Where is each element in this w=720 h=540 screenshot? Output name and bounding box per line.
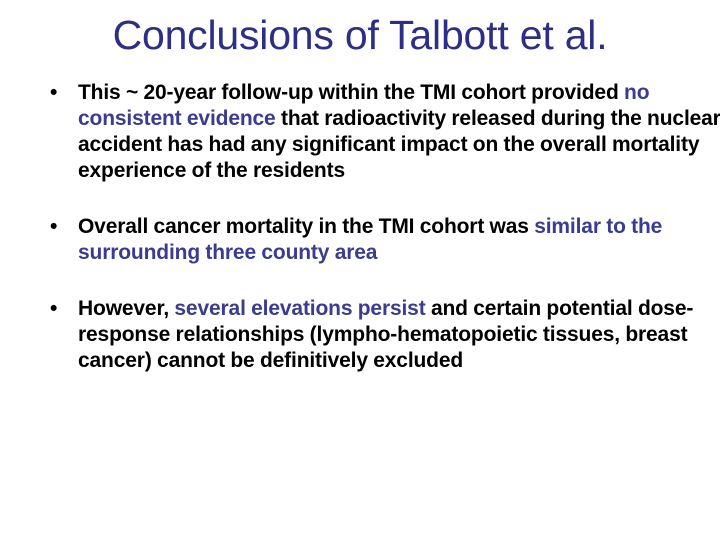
bullet-3-segment-1: However, (78, 297, 174, 320)
bullet-3-highlight: several elevations persist (174, 297, 425, 320)
bullet-point-icon: • (50, 80, 70, 106)
bullet-item-2-text: Overall cancer mortality in the TMI coho… (78, 214, 678, 266)
bullet-item-1-text: This ~ 20-year follow-up within the TMI … (78, 80, 720, 184)
presentation-slide: Conclusions of Talbott et al. • This ~ 2… (0, 0, 720, 540)
bullet-point-icon: • (50, 296, 70, 322)
bullet-item-3: • However, several elevations persist an… (46, 296, 698, 374)
bullet-item-1: • This ~ 20-year follow-up within the TM… (46, 80, 720, 184)
bullet-2-segment-1: Overall cancer mortality in the TMI coho… (78, 215, 534, 238)
bullet-1-segment-1: This ~ 20-year follow-up within the TMI … (78, 81, 624, 104)
slide-body-content: • This ~ 20-year follow-up within the TM… (46, 80, 706, 374)
page-title: Conclusions of Talbott et al. (0, 10, 720, 60)
bullet-item-3-text: However, several elevations persist and … (78, 296, 698, 374)
bullet-item-2: • Overall cancer mortality in the TMI co… (46, 214, 678, 266)
bullet-point-icon: • (50, 214, 70, 240)
